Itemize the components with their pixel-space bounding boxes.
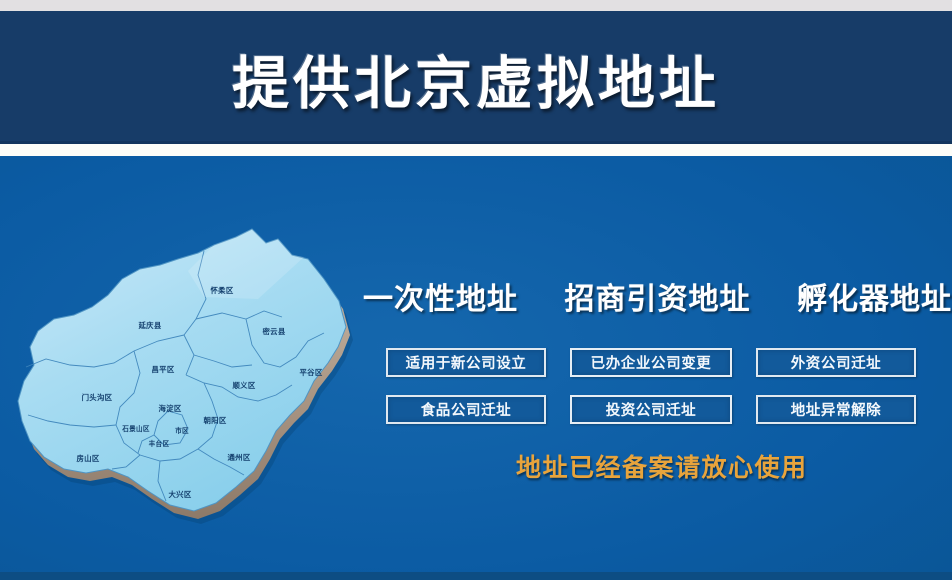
svg-text:大兴区: 大兴区 — [168, 490, 191, 499]
svg-text:通州区: 通州区 — [227, 453, 250, 462]
svg-text:海淀区: 海淀区 — [158, 404, 181, 413]
svg-text:昌平区: 昌平区 — [151, 365, 174, 374]
promotional-banner: 提供北京虚拟地址 — [0, 0, 952, 580]
headline-item-1: 一次性地址 — [363, 274, 518, 318]
chip-existing-company-change[interactable]: 已办企业公司变更 — [570, 348, 732, 377]
headline-row: 一次性地址 招商引资地址 孵化器地址 — [360, 274, 952, 318]
svg-text:延庆县: 延庆县 — [137, 321, 161, 330]
chip-new-company-setup[interactable]: 适用于新公司设立 — [386, 348, 546, 377]
svg-text:市区: 市区 — [175, 426, 189, 435]
beijing-map: 怀柔区 延庆县 密云县 昌平区 顺义区 平谷区 门头沟区 海淀区 石景山区 市区… — [8, 215, 353, 535]
svg-text:平谷区: 平谷区 — [299, 368, 322, 377]
content-column: 一次性地址 招商引资地址 孵化器地址 适用于新公司设立 已办企业公司变更 外资公… — [356, 156, 952, 572]
svg-text:顺义区: 顺义区 — [232, 381, 255, 390]
map-surface: 怀柔区 延庆县 密云县 昌平区 顺义区 平谷区 门头沟区 海淀区 石景山区 市区… — [18, 229, 346, 511]
chip-address-anomaly-removal[interactable]: 地址异常解除 — [756, 395, 916, 424]
headline-item-2: 招商引资地址 — [565, 274, 751, 318]
chip-investment-company-relocation[interactable]: 投资公司迁址 — [570, 395, 732, 424]
chip-foreign-company-relocation[interactable]: 外资公司迁址 — [756, 348, 916, 377]
chip-food-company-relocation[interactable]: 食品公司迁址 — [386, 395, 546, 424]
headline-item-3: 孵化器地址 — [797, 274, 952, 318]
service-chip-grid: 适用于新公司设立 已办企业公司变更 外资公司迁址 食品公司迁址 投资公司迁址 地… — [386, 348, 916, 424]
svg-text:丰台区: 丰台区 — [149, 439, 170, 448]
header-divider — [0, 144, 952, 156]
svg-text:石景山区: 石景山区 — [121, 424, 150, 433]
svg-text:房山区: 房山区 — [75, 454, 99, 463]
tagline: 地址已经备案请放心使用 — [516, 448, 808, 484]
svg-text:门头沟区: 门头沟区 — [82, 393, 113, 402]
bottom-strip — [0, 572, 952, 580]
svg-text:怀柔区: 怀柔区 — [210, 286, 233, 295]
header-band: 提供北京虚拟地址 — [0, 11, 952, 144]
svg-text:密云县: 密云县 — [261, 327, 285, 336]
svg-text:朝阳区: 朝阳区 — [203, 416, 226, 425]
top-gray-strip — [0, 0, 952, 11]
page-title: 提供北京虚拟地址 — [0, 51, 952, 117]
beijing-map-svg: 怀柔区 延庆县 密云县 昌平区 顺义区 平谷区 门头沟区 海淀区 石景山区 市区… — [8, 215, 353, 535]
